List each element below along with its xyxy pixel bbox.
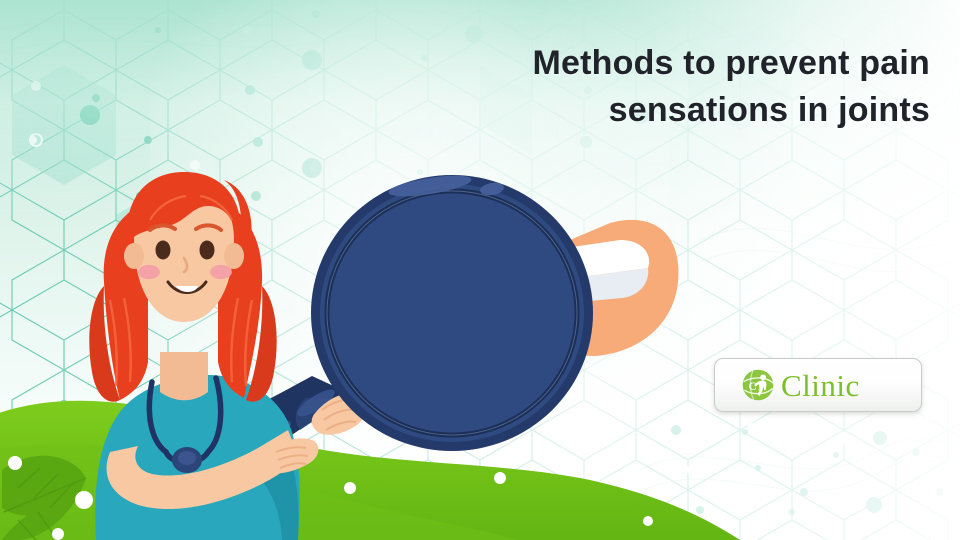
person-in-circle-icon: CT (741, 368, 775, 402)
logo-emblem-text: CT (749, 381, 765, 393)
knee-joint-illustration (0, 0, 960, 540)
banner-canvas: Methods to prevent pain sensations in jo… (0, 0, 960, 540)
clinic-logo[interactable]: CT Clinic (714, 358, 922, 412)
magnifier-ring (311, 172, 593, 451)
logo-wordmark: Clinic (781, 370, 860, 401)
